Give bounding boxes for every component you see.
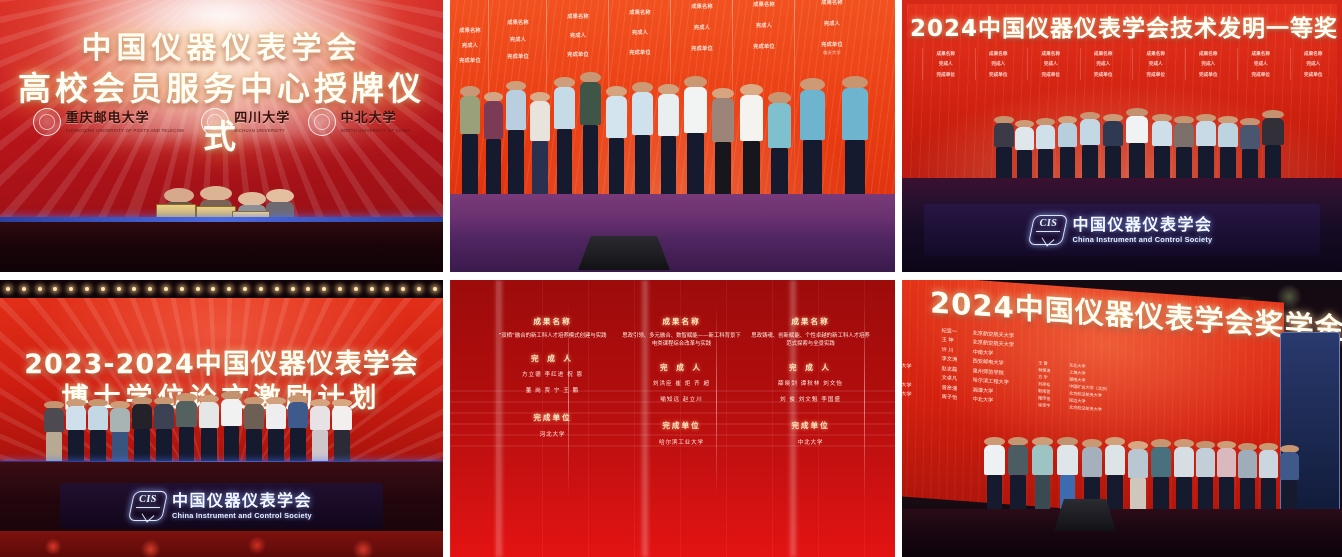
person-body (842, 88, 868, 140)
person-body (606, 96, 627, 138)
org-label: 完成单位 (925, 72, 967, 79)
awardee (1015, 120, 1034, 184)
people-line2: 董 岗 贾 宁 王 鹏 (493, 386, 612, 396)
stage-floor (902, 509, 1342, 557)
award-entry-column: 成果名称 完成人 完成单位 (1185, 48, 1232, 80)
recipient-org: 中北大学 (973, 396, 994, 407)
photo-plaque-ceremony[interactable]: 中国仪器仪表学会 高校会员服务中心授牌仪式 重庆邮电大学 CHONGQING U… (0, 0, 443, 272)
person-body (580, 82, 601, 125)
people-label: 完 成 人 (751, 362, 870, 373)
person-body (460, 96, 480, 134)
recipient-column-2: 王 雪东北大学 林保涛上海大学 方 宇湖南大学 刘岸松中国矿业大学（北京） 靳雨… (1038, 360, 1110, 415)
person-body (1126, 116, 1148, 143)
person-body (176, 401, 197, 427)
awardee (1152, 114, 1172, 184)
entry-org-label: 完成单位 (494, 54, 542, 62)
award-entry-column: 成果名称 完成人 完成单位 (1132, 48, 1179, 80)
people-label: 完成人 (1135, 61, 1177, 68)
person-body (1082, 447, 1102, 477)
achievement-label: 成果名称 (622, 316, 741, 327)
entry-title-label: 成果名称 (614, 10, 666, 18)
entry-people-label: 完成人 (676, 25, 728, 33)
award-entry: 成果名称 完成人 完成单位 (738, 2, 790, 52)
org-value: 中北大学 (751, 438, 870, 446)
entry-org-label: 完成单位 (802, 42, 862, 50)
achievement-label: 成果名称 (1293, 51, 1335, 58)
person-body (132, 404, 152, 429)
org-label: 完成单位 (493, 412, 612, 423)
cis-logo: CIS 中国仪器仪表学会 China Instrument and Contro… (131, 491, 312, 521)
society-banner: CIS 中国仪器仪表学会 China Instrument and Contro… (924, 204, 1320, 256)
sponsor-name-cn: 重庆邮电大学 (66, 111, 150, 126)
person-body (1217, 448, 1236, 477)
awardee (310, 399, 330, 467)
university-seal-icon (201, 108, 229, 136)
org-fragment: 业大学 (902, 390, 912, 401)
person-body (1105, 445, 1125, 475)
entry-org-label: 完成单位 (676, 46, 728, 54)
entry-title-label: 成果名称 (454, 28, 486, 36)
person-body (266, 404, 286, 429)
org-value: 河北大学 (493, 430, 612, 438)
award-entry: 成果名称 完成人 完成单位 (454, 28, 486, 66)
person-head (200, 186, 232, 201)
university-seal-icon (33, 108, 61, 136)
awardee (1080, 112, 1100, 184)
achievement-label: 成果名称 (1083, 51, 1125, 58)
person-body (994, 123, 1014, 147)
achievement-label: 成果名称 (493, 316, 612, 327)
person-body (1280, 452, 1299, 480)
sponsor-logo-cqupt: 重庆邮电大学 CHONGQING UNIVERSITY OF POSTS AND… (33, 108, 184, 136)
awardee (154, 397, 174, 467)
society-name-cn: 中国仪器仪表学会 (1072, 217, 1212, 234)
person-body (1196, 448, 1215, 477)
person-body (1151, 447, 1171, 477)
org-label: 完成单位 (1188, 72, 1230, 79)
awardee (332, 399, 352, 467)
person-body (768, 103, 791, 148)
grid-gap (443, 280, 450, 557)
achievement-label: 成果名称 (751, 316, 870, 327)
grid-gap (895, 0, 902, 272)
person-body (632, 92, 653, 135)
person-body (44, 408, 64, 432)
sponsor-name-en: SICHUAN UNIVERSITY (234, 129, 290, 133)
org-fragment: 技大学 (902, 362, 912, 373)
award-entry-column: 成果名称 完成人 完成单位 (1290, 48, 1337, 80)
person-body (1058, 123, 1077, 147)
panel-divider (794, 0, 795, 202)
achievement-value: “双栖”融合的新工科人才培养模式创建与实践 (493, 332, 612, 340)
person-body (154, 404, 174, 429)
person-body (740, 95, 763, 141)
photo-achievement-board[interactable]: 成果名称 “双栖”融合的新工科人才培养模式创建与实践 完 成 人 方立德 李红进… (450, 280, 895, 557)
sponsor-name-en: NORTH UNIVERSITY OF CHINA (341, 129, 411, 133)
red-carpet (0, 531, 443, 557)
entry-people-label: 完成人 (552, 33, 604, 41)
person-body (1240, 125, 1260, 149)
person-body (1080, 119, 1100, 145)
person-body (1174, 447, 1194, 477)
awardee (288, 395, 308, 467)
awardee (1240, 118, 1260, 184)
entry-people-label: 完成人 (494, 37, 542, 45)
achievement-label: 成果名称 (1188, 51, 1230, 58)
grid-gap (895, 280, 902, 557)
sponsor-logo-row: 重庆邮电大学 CHONGQING UNIVERSITY OF POSTS AND… (24, 108, 419, 136)
stage-monitor-speaker (578, 236, 670, 270)
person-body (221, 399, 242, 426)
entry-title-label: 成果名称 (552, 14, 604, 22)
person-body (1032, 445, 1053, 475)
awardee (244, 397, 264, 467)
sponsor-logo-nuc: 中北大学 NORTH UNIVERSITY OF CHINA (308, 108, 411, 136)
photo-grid: 中国仪器仪表学会 高校会员服务中心授牌仪式 重庆邮电大学 CHONGQING U… (0, 0, 1342, 557)
awardee (266, 397, 286, 467)
people-label: 完成人 (925, 61, 967, 68)
person-body (66, 406, 86, 430)
entry-title-label: 成果名称 (802, 0, 862, 8)
achievement-label: 成果名称 (925, 51, 967, 58)
sponsor-name-cn: 中北大学 (341, 111, 397, 126)
awardee (221, 391, 242, 467)
person-head (164, 188, 194, 203)
entry-people-label: 完成人 (738, 23, 790, 31)
awardee (132, 397, 152, 467)
awardee (994, 116, 1014, 184)
person-head (238, 192, 266, 206)
org-label: 完成单位 (1293, 72, 1335, 79)
photo-doctoral-thesis-program[interactable]: 2023-2024中国仪器仪表学会 博士学位论文激励计划 (0, 280, 443, 557)
stage-floor (450, 194, 895, 272)
award-entry-columns: 成果名称 完成人 完成单位 成果名称 完成人 完成单位 成果名称 完成人 完成单… (922, 48, 1336, 80)
person-body (984, 445, 1005, 475)
award-entry-column: 成果名称 完成人 完成单位 (975, 48, 1022, 80)
person-body (332, 406, 352, 430)
person-body (1036, 125, 1055, 149)
society-name-cn: 中国仪器仪表学会 (172, 493, 312, 510)
achievement-value: 思政铸魂、创新赋能、个性卓越的新工科人才培养范式探索与全景实践 (751, 332, 870, 349)
org-value: 哈尔滨工业大学 (622, 438, 741, 446)
cis-monogram: CIS (131, 494, 165, 505)
person-head (266, 189, 294, 203)
awardee (44, 401, 64, 467)
person-body (1015, 127, 1034, 150)
org-label: 完成单位 (751, 420, 870, 431)
society-name-en: China Instrument and Control Society (172, 512, 312, 520)
photo-tech-invention-first-prize[interactable]: 2024中国仪器仪表学会技术发明一等奖 成果名称 完成人 完成单位 成果名称 完… (902, 0, 1342, 272)
people-line1: 方立德 李红进 祝 恩 (493, 370, 612, 380)
person-body (484, 101, 503, 139)
people-label: 完成人 (1240, 61, 1282, 68)
cis-diamond-icon: CIS (1031, 215, 1065, 245)
entry-org-label: 完成单位 (454, 58, 486, 66)
people-label: 完成人 (1030, 61, 1072, 68)
entry-org-label: 完成单位 (614, 50, 666, 58)
awardee (66, 399, 86, 467)
achievement-label: 成果名称 (1240, 51, 1282, 58)
person-body (1057, 445, 1078, 475)
awardee (1174, 116, 1194, 184)
org-label: 完成单位 (1135, 72, 1177, 79)
person-body (310, 406, 330, 430)
entry-title-label: 成果名称 (738, 2, 790, 10)
entry-people-label: 完成人 (454, 43, 486, 51)
awardee (1262, 110, 1284, 184)
person-body (199, 402, 219, 428)
person-body (1238, 450, 1257, 478)
awardee (1103, 114, 1123, 184)
person-body (88, 406, 108, 430)
award-entry-column: 成果名称 完成人 完成单位 (922, 48, 969, 80)
recipient-column-1: 纪昱一北京航空航天大学 王 坤北京航空航天大学 许 川中南大学 李文涛西安邮电大… (942, 327, 1015, 408)
stage-monitor-speaker (1054, 499, 1116, 531)
people-line1: 刘洪臣 崔 炬 齐 超 (622, 379, 741, 389)
awardee (176, 393, 197, 467)
partial-org-column: 学 学 学 学 技大学 学 工大学 业大学 (902, 324, 912, 401)
entry-org-label: 完成单位 (738, 44, 790, 52)
achievement-label: 成果名称 (978, 51, 1020, 58)
photo-scholarship[interactable]: 2024中国仪器仪表学会奖学金 学 学 学 学 技大学 学 工大学 业大学 纪昱… (902, 280, 1342, 557)
org-label: 完成单位 (1083, 72, 1125, 79)
person-body (1103, 121, 1123, 146)
achievement-value: 思政引领、多元融合、数智赋能——新工科背景下电类课程综合改革与实践 (622, 332, 741, 349)
entry-title-label: 成果名称 (494, 20, 542, 28)
sponsor-name-cn: 四川大学 (234, 111, 290, 126)
achievement-column: 成果名称 “双栖”融合的新工科人才培养模式创建与实践 完 成 人 方立德 李红进… (488, 316, 617, 446)
photo-group-award-wide[interactable]: 成果名称 完成人 完成单位 成果名称 完成人 完成单位 成果名称 完成人 完成单… (450, 0, 895, 272)
people-label: 完成人 (1293, 61, 1335, 68)
org-label: 完成单位 (1240, 72, 1282, 79)
award-entry-column: 成果名称 完成人 完成单位 (1080, 48, 1127, 80)
person-body (1196, 121, 1216, 146)
org-label: 完成单位 (622, 420, 741, 431)
person-body (244, 404, 264, 429)
society-name-en: China Instrument and Control Society (1072, 236, 1212, 244)
university-seal-icon (308, 108, 336, 136)
person-body (288, 402, 308, 428)
person-body (110, 408, 130, 432)
people-label: 完成人 (1188, 61, 1230, 68)
sponsor-name-en: CHONGQING UNIVERSITY OF POSTS AND TELECO… (66, 129, 184, 133)
recipient-org: 北京航空航天大学 (1069, 404, 1102, 413)
stage-floor (0, 222, 443, 272)
grid-gap (0, 272, 1342, 280)
award-entry-column: 成果名称 完成人 完成单位 (1237, 48, 1284, 80)
awardee (199, 395, 219, 467)
award-entry: 成果名称 完成人 完成单位 (552, 14, 604, 60)
person-body (554, 87, 575, 129)
people-label: 完 成 人 (622, 362, 741, 373)
person-body (1218, 123, 1238, 147)
grid-gap (443, 0, 450, 272)
recipient-name: 周子怡 (942, 393, 968, 404)
people-line2: 喻知远 赵立川 (622, 395, 741, 405)
person-body (1174, 123, 1194, 147)
people-line1: 薛晓剑 谭秋林 刘文怡 (751, 379, 870, 389)
person-body (1008, 445, 1028, 475)
entry-people-label: 完成人 (802, 21, 862, 29)
achievement-column: 成果名称 思政引领、多元融合、数智赋能——新工科背景下电类课程综合改革与实践 完… (617, 316, 746, 446)
entry-org-value: 临沂大学 (823, 50, 841, 55)
entry-org-label: 完成单位 (552, 52, 604, 60)
person-body (800, 90, 825, 140)
people-label: 完成人 (1083, 61, 1125, 68)
award-entry: 成果名称 完成人 完成单位 (494, 20, 542, 62)
person-body (1262, 118, 1284, 145)
achievement-label: 成果名称 (1030, 51, 1072, 58)
people-line2: 刘 俊 刘文魁 李国盛 (751, 395, 870, 405)
cis-diamond-icon: CIS (131, 491, 165, 521)
entry-title-label: 成果名称 (676, 4, 728, 12)
society-banner: CIS 中国仪器仪表学会 China Instrument and Contro… (60, 483, 383, 529)
award-entry: 成果名称 完成人 完成单位 (614, 10, 666, 58)
awardee (1218, 116, 1238, 184)
recipient-name: 徐志宇 (1038, 402, 1064, 411)
person-body (1152, 121, 1172, 146)
awardee (1196, 114, 1216, 184)
cis-logo: CIS 中国仪器仪表学会 China Instrument and Contro… (1031, 215, 1212, 245)
people-label: 完 成 人 (493, 353, 612, 364)
org-label: 完成单位 (1030, 72, 1072, 79)
achievement-board: 成果名称 “双栖”融合的新工科人才培养模式创建与实践 完 成 人 方立德 李红进… (488, 316, 875, 446)
person-body (1128, 449, 1148, 478)
awardee (110, 401, 130, 467)
awardee (1036, 118, 1055, 184)
award-headline: 2024中国仪器仪表学会技术发明一等奖 (910, 9, 1342, 43)
people-label: 完成人 (978, 61, 1020, 68)
person-body (712, 98, 734, 142)
award-entry: 成果名称 完成人 完成单位 (676, 4, 728, 54)
org-label: 完成单位 (978, 72, 1020, 79)
person-body (1259, 450, 1278, 478)
achievement-label: 成果名称 (1135, 51, 1177, 58)
award-entry-column: 成果名称 完成人 完成单位 (1027, 48, 1074, 80)
truss-lights (0, 280, 443, 298)
entry-people-label: 完成人 (614, 30, 666, 38)
awardee (88, 399, 108, 467)
person-body (658, 94, 679, 136)
awardee (1058, 116, 1077, 184)
person-body (684, 87, 707, 133)
sponsor-logo-scu: 四川大学 SICHUAN UNIVERSITY (201, 108, 290, 136)
cis-monogram: CIS (1031, 218, 1065, 229)
award-entry: 成果名称 完成人 完成单位 临沂大学 (802, 0, 862, 57)
person-body (530, 101, 550, 141)
achievement-column: 成果名称 思政铸魂、创新赋能、个性卓越的新工科人才培养范式探索与全景实践 完 成… (746, 316, 875, 446)
person-body (506, 90, 526, 130)
awardee (1126, 108, 1148, 184)
ceremony-title-line1: 中国仪器仪表学会 (0, 23, 443, 67)
